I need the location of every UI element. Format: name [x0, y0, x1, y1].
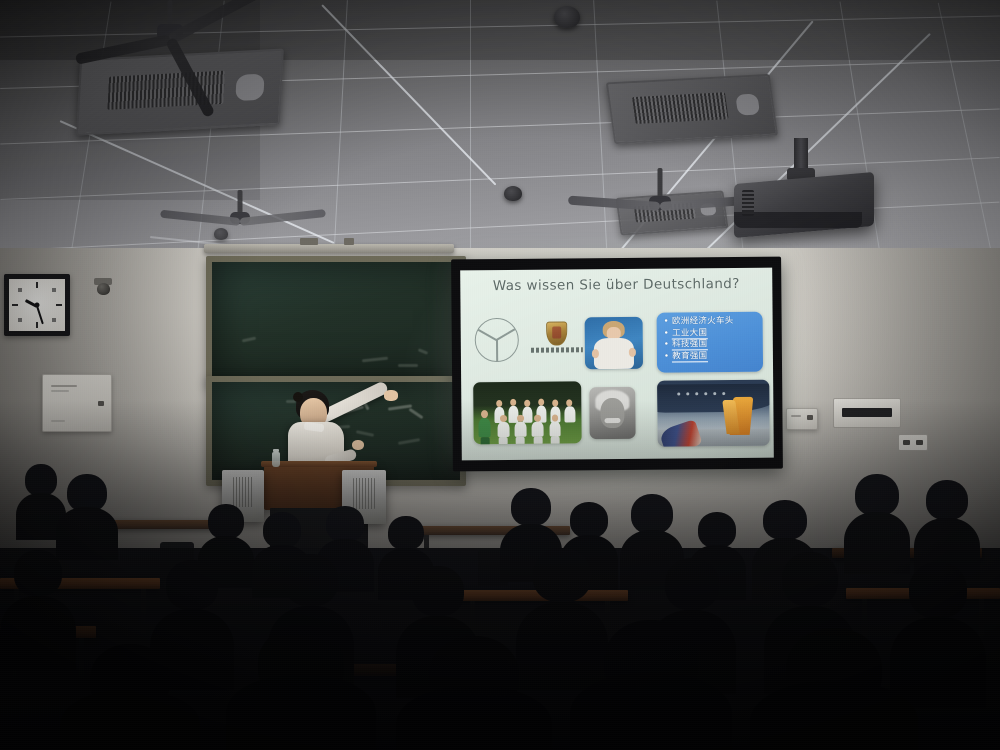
wall-control-panel: [42, 374, 112, 432]
board-light-fixture: [204, 244, 454, 253]
student-silhouette: [226, 626, 376, 750]
ceiling-ac-unit: [606, 74, 778, 144]
lecturer-hair-bun: [293, 392, 303, 402]
student-silhouette: [396, 636, 552, 750]
smoke-detector-icon: [554, 6, 580, 28]
bullet-item: 欧洲经济火车头: [664, 316, 763, 328]
slide-title: Was wissen Sie über Deutschland?: [460, 276, 772, 295]
mercedes-benz-logo-icon: [475, 318, 519, 362]
lecturer-pointing-hand: [384, 390, 398, 401]
student-silhouette: [56, 474, 118, 560]
slide-bullet-box: 欧洲经济火车头 工业大国 科技强国 教育强国: [657, 312, 764, 373]
student-silhouette: [570, 620, 732, 750]
wall-vent: [833, 398, 901, 428]
wall-notice-box: [786, 408, 818, 430]
security-camera-icon: [90, 278, 116, 300]
student-silhouette: [750, 628, 918, 750]
suspended-ceiling: [0, 0, 1000, 262]
bullet-item: 工业大国: [664, 327, 763, 339]
ceiling-fan: [70, 0, 270, 74]
smoke-detector-icon: [214, 228, 228, 240]
wall-clock: [4, 274, 70, 336]
bullet-item: 教育强国: [664, 351, 763, 363]
chalkboard-panel-upper: [206, 256, 466, 386]
student-silhouette: [60, 644, 200, 750]
ceiling-projector: [716, 138, 886, 248]
bullet-item: 科技强国: [664, 339, 763, 351]
porsche-logo-icon: [527, 321, 587, 362]
audience-area: [0, 430, 1000, 750]
lecture-hall-photo: Was wissen Sie über Deutschland?: [0, 0, 1000, 750]
smoke-detector-icon: [504, 186, 522, 201]
angela-merkel-photo: [585, 317, 643, 370]
